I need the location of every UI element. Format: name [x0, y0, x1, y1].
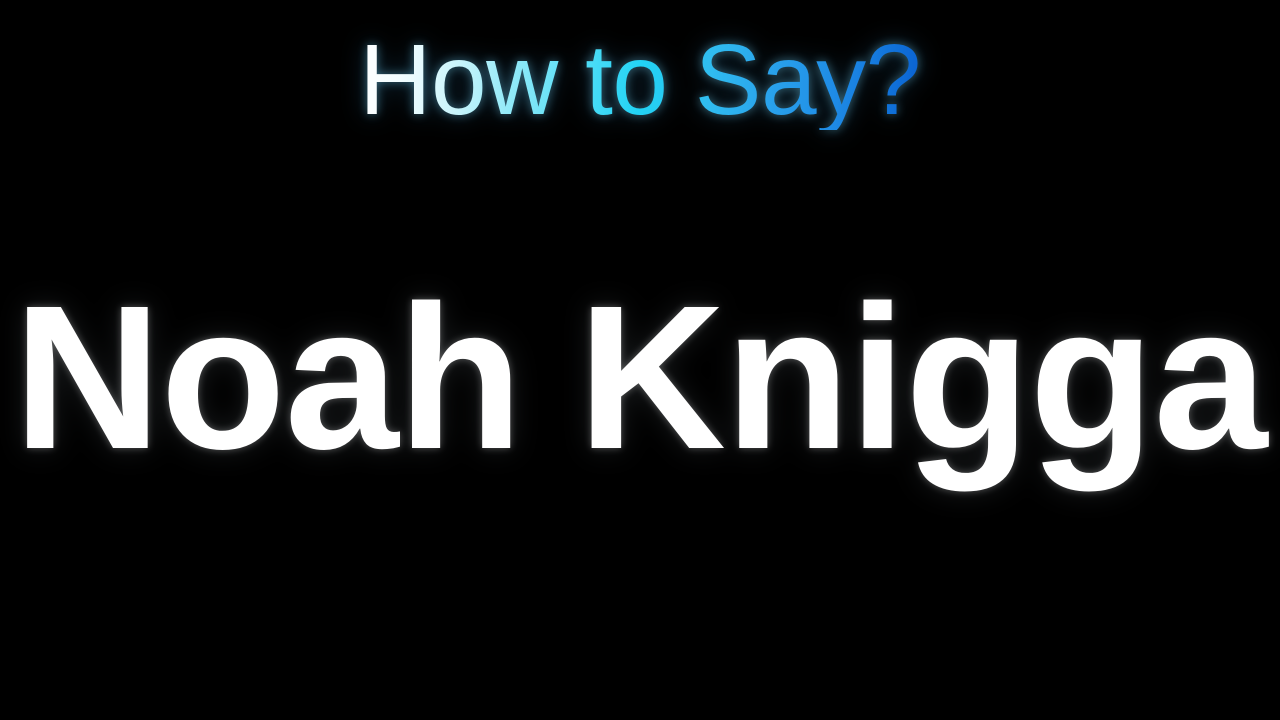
- main-word-container: Noah Knigga: [0, 232, 1280, 522]
- pronunciation-slide: How to Say? Noah Knigga: [0, 0, 1280, 720]
- how-to-say-title: How to Say?: [359, 30, 920, 130]
- pronunciation-word: Noah Knigga: [13, 275, 1266, 480]
- title-container: How to Say?: [0, 0, 1280, 160]
